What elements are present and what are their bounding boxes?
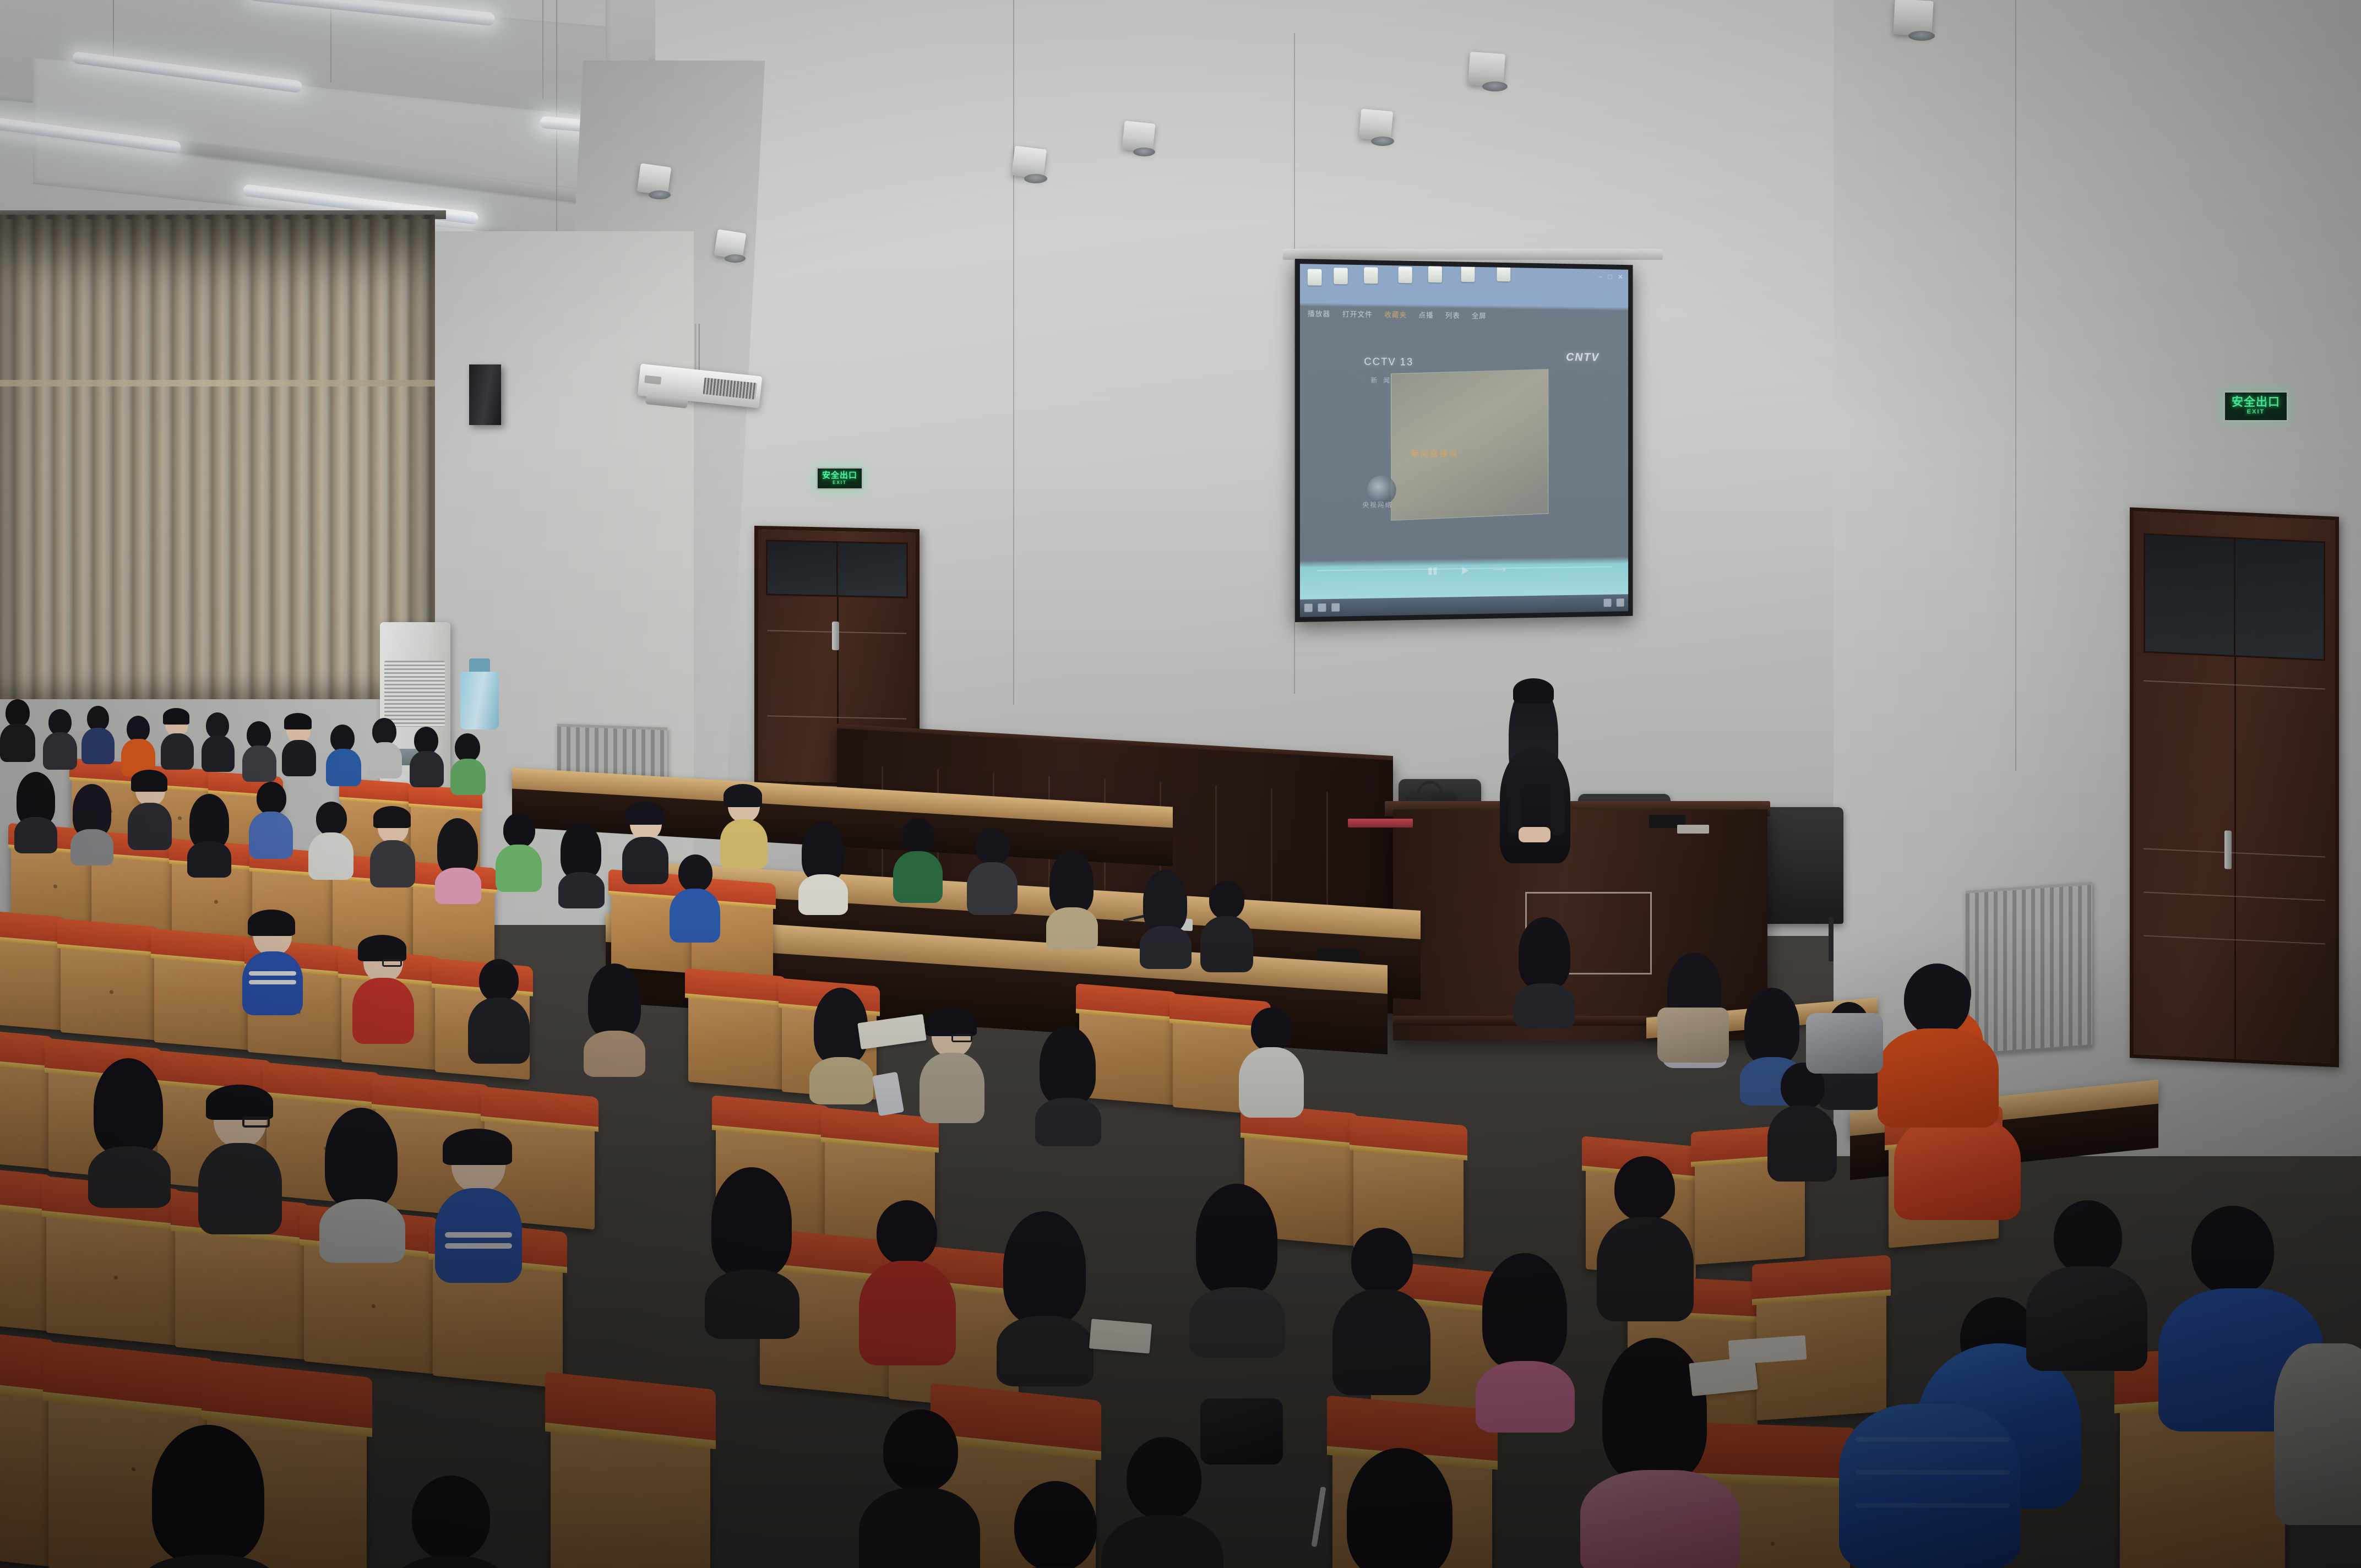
audience-member: [1767, 1063, 1837, 1177]
audience-member: [1140, 872, 1192, 960]
wall-speaker: [469, 364, 501, 425]
curtain-band: [0, 380, 435, 386]
notebook: [1089, 1319, 1152, 1353]
audience-member: [0, 699, 35, 760]
audience-member: [198, 1090, 282, 1230]
audience-member: [1046, 853, 1098, 941]
audience-member: [1200, 881, 1253, 971]
window-controls[interactable]: – □ ✕: [1598, 273, 1623, 281]
audience-member: [720, 787, 768, 865]
ceiling-spotlight: [1013, 148, 1047, 187]
auditorium-seat[interactable]: [688, 972, 783, 1090]
audience-member: [705, 1173, 799, 1330]
menu-item-fullscreen[interactable]: 全屏: [1472, 311, 1487, 321]
maximize-icon[interactable]: □: [1608, 273, 1612, 281]
player-controls[interactable]: ▮▮ ▶ ⟶: [1300, 563, 1628, 579]
audience-member: [202, 712, 235, 770]
audience-member: [893, 818, 943, 901]
ceiling-spotlight: [716, 231, 747, 268]
audience-member: [859, 1200, 956, 1361]
ac-grille: [384, 661, 445, 727]
audience-member: [2274, 1310, 2361, 1531]
projection-screen[interactable]: – □ ✕ 播放器 打开文件 收藏夹 点播 列表 全屏 CCTV 13 新 闻 …: [1295, 259, 1633, 622]
taskbar-icon[interactable]: [1304, 604, 1313, 612]
door-transom-window: [766, 540, 907, 598]
stage-books: [1348, 819, 1413, 827]
audience-member: [986, 1481, 1123, 1568]
video-frame: [1391, 369, 1548, 520]
desk-notebook: [1317, 948, 1359, 962]
exit-sign-label-cn: 安全出口: [2232, 396, 2280, 408]
desktop-icon[interactable]: [1461, 265, 1475, 282]
taskbar-icon[interactable]: [1318, 604, 1326, 612]
audience-member: [242, 914, 303, 1013]
audience-member: [410, 727, 444, 785]
desktop-icon[interactable]: [1399, 266, 1412, 283]
audience-member: [43, 709, 77, 767]
audience-member: [558, 825, 605, 901]
audience-member: [161, 710, 194, 767]
light-hanging-rod: [330, 0, 331, 83]
audience-member: [920, 1013, 984, 1121]
play-icon[interactable]: ▶: [1462, 565, 1469, 576]
exit-sign-right: 安全出口 EXIT: [2223, 391, 2288, 422]
taskbar[interactable]: [1300, 594, 1628, 617]
menu-item-open-file[interactable]: 打开文件: [1342, 309, 1373, 320]
audience-member: [468, 959, 530, 1060]
pause-icon[interactable]: ▮▮: [1428, 565, 1438, 576]
auditorium-seat[interactable]: [0, 912, 62, 1030]
audience-member: [14, 774, 57, 846]
menu-item-favorites[interactable]: 收藏夹: [1384, 309, 1407, 320]
taskbar-icon[interactable]: [1604, 599, 1612, 607]
audience-member: [450, 733, 486, 793]
ceiling-spotlight: [1894, 0, 1935, 47]
audience-member: [967, 828, 1018, 913]
audience-member: [128, 773, 172, 847]
light-hanging-rod: [542, 0, 543, 99]
backpack: [1200, 1398, 1283, 1464]
audience-member: [859, 1409, 980, 1568]
ceiling-spotlight: [1360, 110, 1394, 150]
audience-member: [1338, 1453, 1462, 1568]
audience-member: [584, 967, 645, 1069]
audience-member: [368, 718, 402, 776]
audience-member: [1035, 1030, 1101, 1139]
audience-member: [370, 809, 415, 884]
cntv-logo: CNTV: [1566, 351, 1600, 364]
ceiling-spotlight: [639, 165, 672, 204]
projector-mount-rod: [695, 324, 700, 372]
stage-curtain: [0, 215, 435, 699]
auditorium-seat[interactable]: [551, 1379, 710, 1568]
audience-member: [496, 813, 542, 889]
audience-member: [352, 939, 414, 1041]
desktop-icon[interactable]: [1334, 268, 1348, 284]
water-bottle: [460, 672, 499, 729]
desktop-icon[interactable]: [1497, 265, 1511, 282]
audience-member: [2026, 1200, 2147, 1365]
door-right[interactable]: [2130, 507, 2339, 1067]
menu-item-player[interactable]: 播放器: [1308, 308, 1330, 319]
exit-sign-label-cn: 安全出口: [822, 471, 857, 480]
pen: [1311, 1487, 1326, 1547]
audience-member: [88, 1063, 171, 1200]
menu-item-ondemand[interactable]: 点播: [1418, 309, 1433, 320]
close-icon[interactable]: ✕: [1618, 273, 1623, 281]
audience-member: [326, 725, 361, 784]
auditorium-seat[interactable]: [0, 1030, 50, 1169]
audience-member: [385, 1476, 515, 1568]
ceiling-spotlight: [1123, 122, 1156, 161]
audience-member: [1239, 1008, 1304, 1115]
audience-member: [319, 1112, 405, 1254]
audience-member: [242, 721, 276, 780]
audience-member: [622, 805, 668, 881]
video-caption: 新闻直播间: [1411, 448, 1459, 459]
audience-member: [249, 782, 293, 856]
audience-member: [997, 1217, 1094, 1378]
auditorium-seat[interactable]: [61, 922, 155, 1040]
projection-screen-housing: [1283, 249, 1663, 260]
backpack: [1806, 1013, 1883, 1074]
audience-member: [1332, 1228, 1430, 1391]
auditorium-seat[interactable]: [0, 1330, 50, 1566]
audience-member: [81, 706, 115, 763]
station-name: 央视网络: [1362, 500, 1392, 509]
audience-member: [143, 1431, 275, 1568]
smartphone[interactable]: [872, 1072, 904, 1117]
presenter: [1487, 677, 1586, 859]
desktop-icon[interactable]: [1364, 267, 1378, 284]
channel-sublabel: 新 闻: [1371, 375, 1392, 385]
player-menu-bar[interactable]: 播放器 打开文件 收藏夹 点播 列表 全屏: [1300, 304, 1628, 326]
lecture-hall-photo: 安全出口 EXIT 安全出口 EXIT – □ ✕ 播放器 打开文件 收藏夹: [0, 0, 2361, 1568]
audience-member: [435, 820, 481, 896]
audience-member: [798, 824, 848, 906]
desktop-icon[interactable]: [1308, 269, 1322, 285]
forward-icon[interactable]: ⟶: [1493, 564, 1506, 575]
taskbar-icon[interactable]: [1331, 603, 1340, 612]
taskbar-icon[interactable]: [1617, 599, 1624, 607]
audience-member: [670, 854, 720, 940]
audience-member: [121, 716, 155, 774]
audience-member: [282, 716, 316, 774]
auditorium-seat[interactable]: [0, 1166, 47, 1331]
podium-notebook: [1677, 825, 1709, 834]
menu-item-list[interactable]: 列表: [1445, 310, 1460, 320]
audience-member: [187, 796, 231, 870]
minimize-icon[interactable]: –: [1598, 273, 1602, 281]
audience-member: [1878, 963, 1999, 1118]
audience-member: [308, 802, 353, 876]
backpack: [1657, 1008, 1729, 1063]
door-transom-window: [2144, 533, 2325, 661]
audience-member: [435, 1134, 522, 1278]
audience-member: [1597, 1156, 1694, 1316]
exit-sign-left: 安全出口 EXIT: [816, 467, 863, 490]
projected-image: – □ ✕ 播放器 打开文件 收藏夹 点播 列表 全屏 CCTV 13 新 闻 …: [1300, 264, 1628, 617]
audience-member: [70, 786, 113, 858]
desktop-icon[interactable]: [1428, 266, 1442, 282]
audience-member: [1514, 921, 1575, 1021]
ceiling-spotlight: [1469, 53, 1506, 97]
exit-sign-label-en: EXIT: [2247, 408, 2265, 416]
audience-member: [1189, 1189, 1285, 1349]
audience-member: [1476, 1259, 1575, 1424]
channel-label: CCTV 13: [1364, 356, 1413, 369]
exit-sign-label-en: EXIT: [833, 480, 847, 486]
auditorium-seat[interactable]: [154, 932, 249, 1050]
